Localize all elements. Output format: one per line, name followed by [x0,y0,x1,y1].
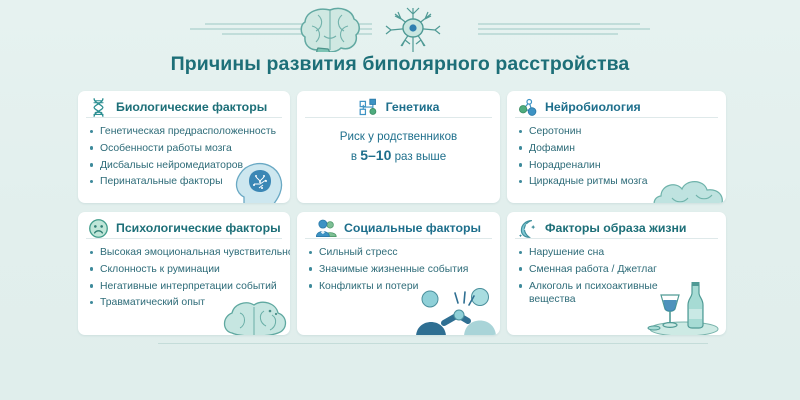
molecule-icon [517,97,538,118]
card-header: Нейробиология [507,91,726,118]
infographic-canvas: Причины развития биполярного расстройств… [0,0,800,400]
header: Причины развития биполярного расстройств… [0,0,800,88]
bullet-list: Генетическая предрасположенность Особенн… [89,125,281,189]
two-people-icon [316,218,337,239]
cards-grid: Биологические факторы Генетическая предр… [78,91,726,335]
card-social[interactable]: Социальные факторы Сильный стресс Значим… [297,212,500,335]
moon-icon [517,218,538,239]
header-artwork [0,4,800,52]
header-divider [305,238,492,239]
list-item: Дисбальыс нейромедиаторов [89,159,281,172]
list-item: Негативные интерпретации событий [89,280,281,293]
statement-suffix: раз выше [391,150,446,163]
card-genetics[interactable]: Генетика Риск у родственников в 5–10 раз… [297,91,500,203]
card-body: Генетическая предрасположенность Особенн… [78,118,290,198]
list-item: Травматический опыт [89,296,281,309]
card-body: Высокая эмоциональная чувствительность С… [78,239,290,319]
card-title: Нейробиология [545,101,641,113]
list-item: Значимые жизненные события [308,263,491,276]
list-item: Сменная работа / Джетлаг [518,263,717,276]
card-body: Нарушение сна Сменная работа / Джетлаг А… [507,239,726,316]
card-body: Серотонин Дофамин Норадреналин Циркадные… [507,118,726,198]
card-psychological[interactable]: Психологические факторы Высокая эмоциона… [78,212,290,335]
neuron-icon [386,8,440,52]
bullet-list: Сильный стресс Значимые жизненные событи… [308,246,491,293]
speed-lines-right [478,24,650,34]
list-item: Алкоголь и психоактивные вещества [518,280,679,307]
list-item: Норадреналин [518,159,717,172]
card-header: Факторы образа жизни [507,212,726,239]
card-body: Сильный стресс Значимые жизненные событи… [297,239,500,302]
statement-prefix: в [351,150,360,163]
list-item: Серотонин [518,125,717,138]
bullet-list: Серотонин Дофамин Норадреналин Циркадные… [518,125,717,189]
bullet-list: Нарушение сна Сменная работа / Джетлаг А… [518,246,717,306]
genetics-statement: Риск у родственников в 5–10 раз выше [297,118,500,166]
card-title: Социальные факторы [344,222,481,234]
card-neurobiology[interactable]: Нейробиология Серотонин Дофамин Норадрен… [507,91,726,203]
list-item: Перинатальные факторы [89,175,281,188]
list-item: Склонность к руминации [89,263,281,276]
list-item: Нарушение сна [518,246,717,259]
header-divider [86,117,282,118]
brain-icon [301,8,359,52]
statement-value: 5–10 [360,147,391,163]
header-divider [515,117,718,118]
card-title: Психологические факторы [116,222,281,234]
bullet-list: Высокая эмоциональная чувствительность С… [89,246,281,310]
card-title: Факторы образа жизни [545,222,686,234]
list-item: Циркадные ритмы мозга [518,175,717,188]
family-tree-icon [358,97,379,118]
card-title: Биологические факторы [116,101,267,113]
statement-line1: Риск у родственников [305,128,492,145]
header-divider [305,117,492,118]
header-divider [86,238,282,239]
card-header: Биологические факторы [78,91,290,118]
card-header: Психологические факторы [78,212,290,239]
card-biological[interactable]: Биологические факторы Генетическая предр… [78,91,290,203]
bottom-divider [158,343,708,344]
header-divider [515,238,718,239]
list-item: Сильный стресс [308,246,491,259]
statement-line2: в 5–10 раз выше [305,145,492,166]
card-header: Генетика [297,91,500,118]
card-lifestyle[interactable]: Факторы образа жизни Нарушение сна Сменн… [507,212,726,335]
list-item: Особенности работы мозга [89,142,281,155]
page-title: Причины развития биполярного расстройств… [0,53,800,76]
list-item: Дофамин [518,142,717,155]
sad-face-icon [88,218,109,239]
list-item: Конфликты и потери [308,280,491,293]
card-title: Генетика [386,101,440,113]
list-item: Высокая эмоциональная чувствительность [89,246,281,259]
dna-icon [88,97,109,118]
list-item: Генетическая предрасположенность [89,125,281,138]
card-header: Социальные факторы [297,212,500,239]
